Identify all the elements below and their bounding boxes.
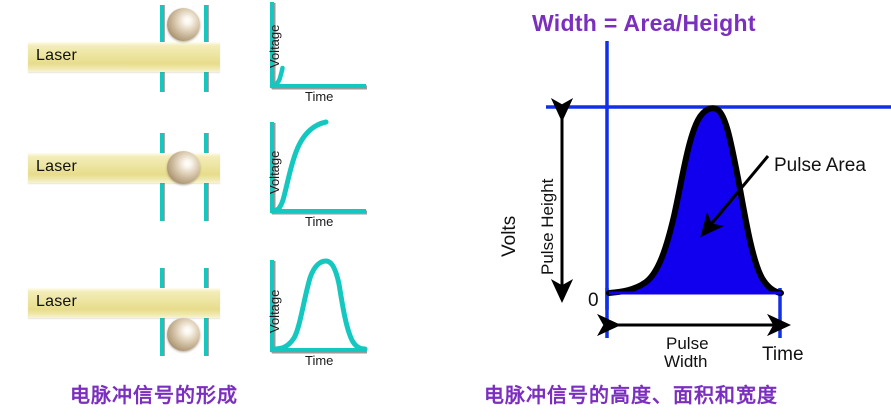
graph-y-axis-label: Voltage: [267, 151, 282, 194]
pulse-chart: [450, 20, 891, 380]
right-panel: Width = Area/Height: [450, 0, 891, 417]
right-panel-caption: 电脉冲信号的高度、面积和宽度: [484, 379, 778, 408]
trace-curve: [274, 261, 365, 349]
left-panel-caption: 电脉冲信号的形成: [70, 379, 238, 408]
bead: [167, 8, 200, 41]
pulse-area-label: Pulse Area: [774, 155, 866, 177]
laser-label: Laser: [36, 293, 77, 311]
bead: [167, 318, 200, 351]
voltage-trace-graph-1: Voltage Time: [250, 0, 370, 110]
laser-row-1: Laser Voltage: [0, 0, 250, 110]
graph-x-axis-label: Time: [305, 353, 333, 368]
laser-row-2: Laser Voltage Time: [0, 133, 250, 243]
graph-y-axis-label: Voltage: [267, 290, 282, 333]
graph-y-axis-label: Voltage: [267, 25, 282, 68]
pulse-width-label-line1: Pulse: [666, 334, 709, 354]
diagram-canvas: Laser Voltage: [0, 0, 891, 417]
left-panel: Laser Voltage: [0, 0, 450, 417]
y-axis-zero-label: 0: [588, 290, 599, 312]
laser-label: Laser: [36, 158, 77, 176]
y-axis-label: Volts: [499, 216, 521, 257]
bead: [167, 151, 200, 184]
pulse-width-label-line2: Width: [664, 352, 707, 372]
pulse-height-label: Pulse Height: [538, 179, 558, 275]
voltage-trace-graph-2: Voltage Time: [250, 110, 370, 230]
graph-x-axis-label: Time: [305, 89, 333, 104]
laser-row-3: Laser Voltage Time: [0, 265, 250, 375]
voltage-trace-graph-3: Voltage Time: [250, 250, 370, 370]
x-axis-label: Time: [762, 344, 804, 366]
laser-label: Laser: [36, 47, 77, 65]
graph-x-axis-label: Time: [305, 214, 333, 229]
